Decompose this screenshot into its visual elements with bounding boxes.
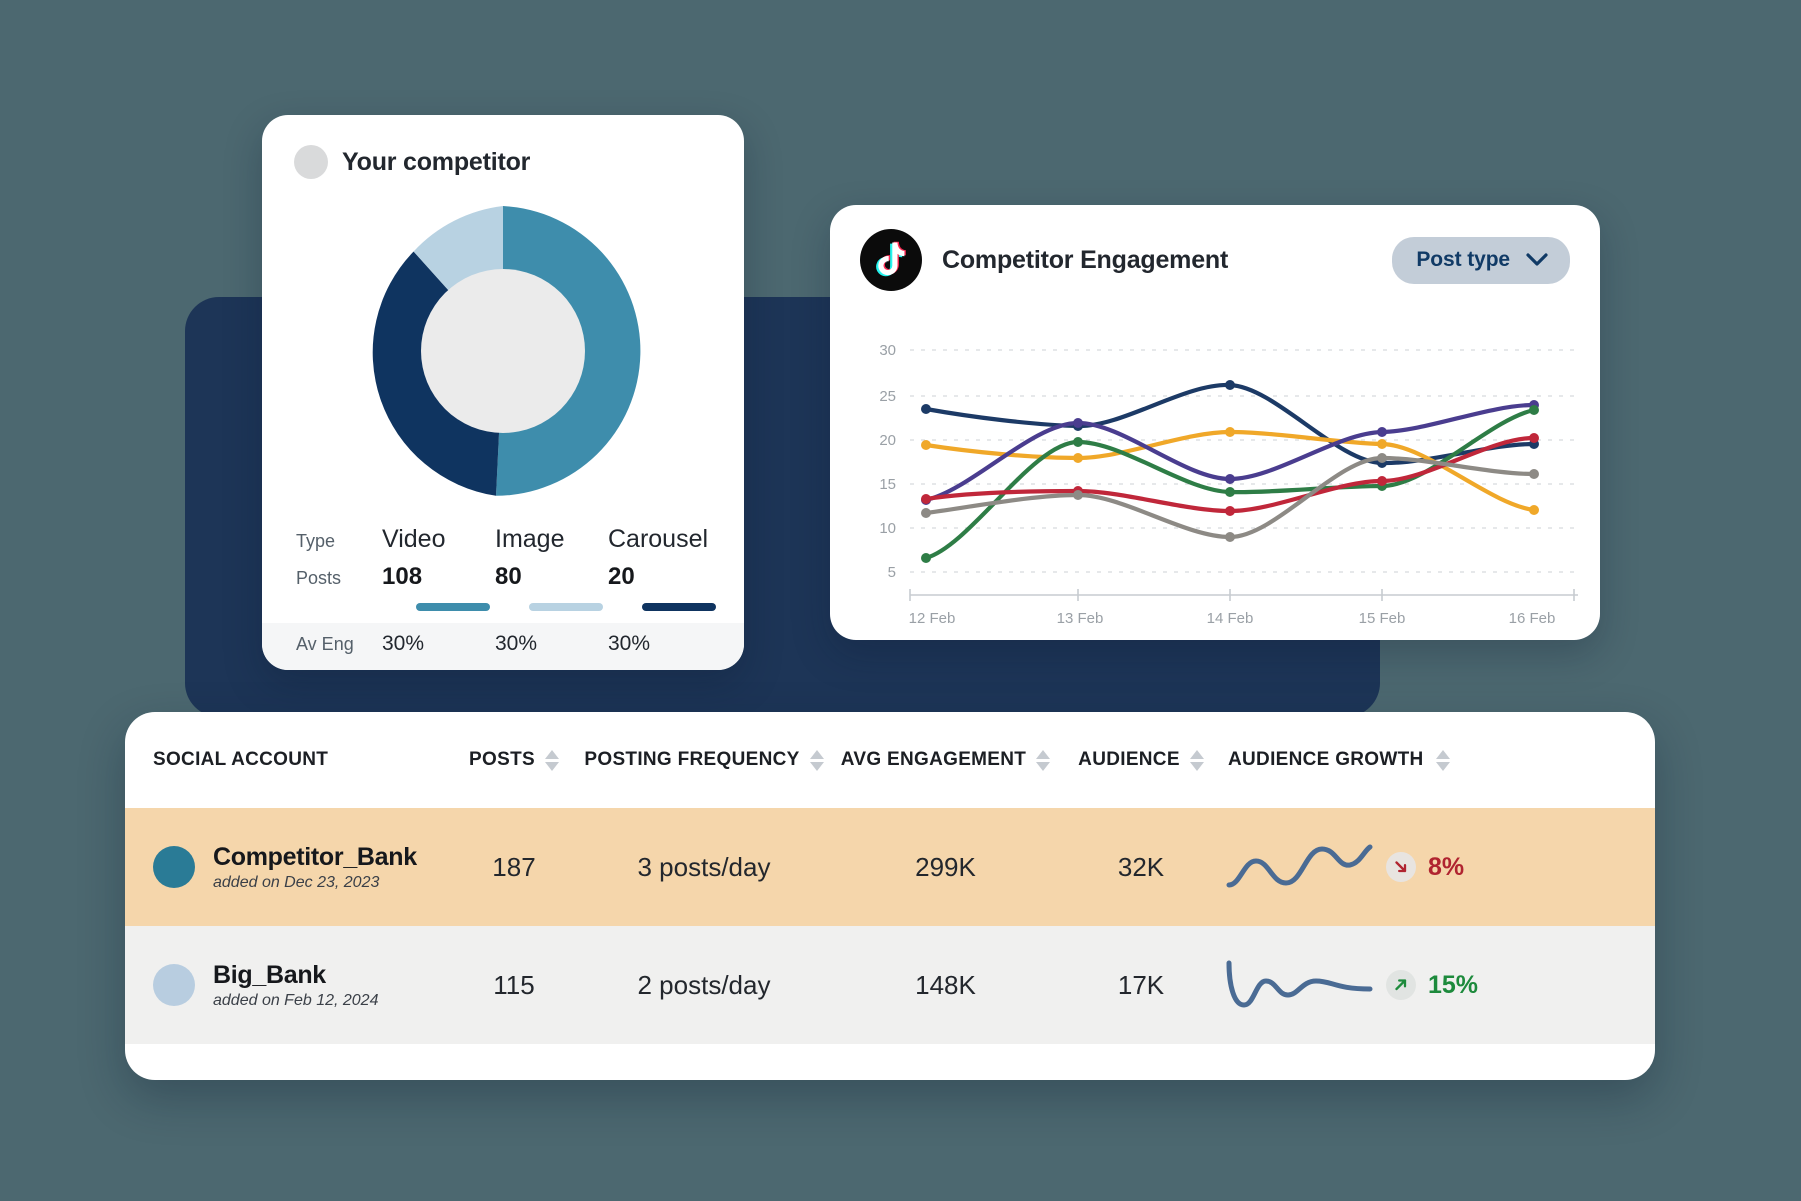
dashboard-stage: Your competitor Type Video Image Carouse… <box>0 0 1801 1201</box>
competitor-donut-card: Your competitor Type Video Image Carouse… <box>262 115 744 670</box>
column-header-label: SOCIAL ACCOUNT <box>153 749 328 771</box>
gridlines <box>910 350 1578 572</box>
table-row[interactable]: Big_Bank added on Feb 12, 2024 115 2 pos… <box>125 926 1655 1044</box>
arrow-down-right-icon <box>1386 852 1416 882</box>
engagement-line-chart: 30 25 20 15 10 5 <box>830 305 1600 635</box>
chart-card-header: Competitor Engagement Post type <box>830 205 1600 291</box>
legend-type-carousel: Carousel <box>608 525 721 554</box>
cell-social-account: Big_Bank added on Feb 12, 2024 <box>153 961 453 1010</box>
svg-text:25: 25 <box>879 388 896 405</box>
series-markers <box>921 380 1539 563</box>
legend-aveng-carousel: 30% <box>608 632 721 656</box>
donut-chart-svg <box>353 201 653 501</box>
svg-text:15: 15 <box>879 476 896 493</box>
arrow-up-right-icon <box>1386 970 1416 1000</box>
legend-bar-image-cell <box>529 603 642 611</box>
svg-text:14 Feb: 14 Feb <box>1207 610 1254 627</box>
x-axis-ticks: 12 Feb 13 Feb 14 Feb 15 Feb 16 Feb <box>909 610 1556 627</box>
sparkline-chart <box>1224 955 1374 1015</box>
sort-icon[interactable] <box>810 750 824 771</box>
column-header-label: POSTING FREQUENCY <box>584 749 799 771</box>
legend-bar-video <box>416 603 490 611</box>
column-header-label: AUDIENCE GROWTH <box>1228 749 1424 771</box>
legend-bar-video-cell <box>416 603 529 611</box>
legend-row-posts: Posts 108 80 20 <box>296 563 744 601</box>
sort-icon[interactable] <box>1436 750 1450 771</box>
legend-color-bars <box>296 601 744 623</box>
avatar <box>294 145 328 179</box>
legend-label-posts: Posts <box>296 568 382 589</box>
table-row[interactable]: Competitor_Bank added on Dec 23, 2023 18… <box>125 808 1655 926</box>
column-header-label: POSTS <box>469 749 535 771</box>
sparkline-chart <box>1224 837 1374 897</box>
column-header-label: AVG ENGAGEMENT <box>841 749 1026 771</box>
avatar <box>153 964 195 1006</box>
legend-label-type: Type <box>296 531 382 552</box>
x-axis <box>910 589 1578 601</box>
growth-percentage: 8% <box>1428 853 1464 882</box>
donut-legend: Type Video Image Carousel Posts 108 80 2… <box>262 525 744 670</box>
column-header-posts[interactable]: POSTS <box>453 749 575 771</box>
legend-posts-video: 108 <box>382 563 495 591</box>
post-type-filter-button[interactable]: Post type <box>1392 237 1570 284</box>
account-added-date: added on Feb 12, 2024 <box>213 992 378 1010</box>
avatar <box>153 846 195 888</box>
legend-type-video: Video <box>382 525 495 554</box>
cell-avg-engagement: 148K <box>833 970 1058 1001</box>
legend-row-av-eng: Av Eng 30% 30% 30% <box>262 623 744 670</box>
chevron-down-icon <box>1526 253 1548 267</box>
cell-audience-growth: 8% <box>1224 837 1524 897</box>
cell-posts: 115 <box>453 970 575 1001</box>
legend-bar-carousel-cell <box>642 603 744 611</box>
legend-aveng-video: 30% <box>382 632 495 656</box>
competitor-engagement-card: Competitor Engagement Post type 30 25 20… <box>830 205 1600 640</box>
cell-posting-frequency: 2 posts/day <box>575 970 833 1001</box>
svg-text:15 Feb: 15 Feb <box>1359 610 1406 627</box>
donut-card-header: Your competitor <box>262 115 744 179</box>
post-type-filter-label: Post type <box>1416 248 1510 272</box>
legend-label-av-eng: Av Eng <box>296 634 382 655</box>
cell-social-account: Competitor_Bank added on Dec 23, 2023 <box>153 843 453 892</box>
svg-text:16 Feb: 16 Feb <box>1509 610 1556 627</box>
svg-text:10: 10 <box>879 520 896 537</box>
legend-bar-image <box>529 603 603 611</box>
tiktok-icon <box>860 229 922 291</box>
sort-icon[interactable] <box>1036 750 1050 771</box>
series-purple-path <box>926 405 1534 500</box>
donut-chart <box>353 201 653 501</box>
column-header-posting-frequency[interactable]: POSTING FREQUENCY <box>575 749 833 771</box>
cell-audience: 17K <box>1058 970 1224 1001</box>
account-name: Competitor_Bank <box>213 843 417 872</box>
legend-posts-image: 80 <box>495 563 608 591</box>
y-axis-ticks: 30 25 20 15 10 5 <box>879 342 896 581</box>
legend-aveng-image: 30% <box>495 632 608 656</box>
account-name: Big_Bank <box>213 961 378 990</box>
cell-audience: 32K <box>1058 852 1224 883</box>
svg-text:5: 5 <box>888 564 896 581</box>
sort-icon[interactable] <box>1190 750 1204 771</box>
legend-bar-carousel <box>642 603 716 611</box>
cell-avg-engagement: 299K <box>833 852 1058 883</box>
svg-text:12 Feb: 12 Feb <box>909 610 956 627</box>
column-header-social-account: SOCIAL ACCOUNT <box>153 749 453 771</box>
tiktok-glyph <box>874 241 908 279</box>
column-header-label: AUDIENCE <box>1078 749 1180 771</box>
svg-text:30: 30 <box>879 342 896 359</box>
line-chart-svg: 30 25 20 15 10 5 <box>830 305 1600 635</box>
page-title: Your competitor <box>342 148 530 177</box>
growth-percentage: 15% <box>1428 971 1478 1000</box>
competitor-table-card: SOCIAL ACCOUNT POSTS POSTING FREQUENCY A… <box>125 712 1655 1080</box>
cell-posts: 187 <box>453 852 575 883</box>
chart-title: Competitor Engagement <box>942 246 1228 275</box>
donut-hole <box>421 269 585 433</box>
sort-icon[interactable] <box>545 750 559 771</box>
table-header-row: SOCIAL ACCOUNT POSTS POSTING FREQUENCY A… <box>125 712 1655 808</box>
svg-text:13 Feb: 13 Feb <box>1057 610 1104 627</box>
cell-posting-frequency: 3 posts/day <box>575 852 833 883</box>
column-header-avg-engagement[interactable]: AVG ENGAGEMENT <box>833 749 1058 771</box>
column-header-audience-growth[interactable]: AUDIENCE GROWTH <box>1224 749 1524 771</box>
account-added-date: added on Dec 23, 2023 <box>213 874 417 892</box>
svg-text:20: 20 <box>879 432 896 449</box>
legend-type-image: Image <box>495 525 608 554</box>
legend-posts-carousel: 20 <box>608 563 721 591</box>
legend-row-type: Type Video Image Carousel <box>296 525 744 563</box>
column-header-audience[interactable]: AUDIENCE <box>1058 749 1224 771</box>
series-grey-path <box>926 458 1534 537</box>
cell-audience-growth: 15% <box>1224 955 1524 1015</box>
